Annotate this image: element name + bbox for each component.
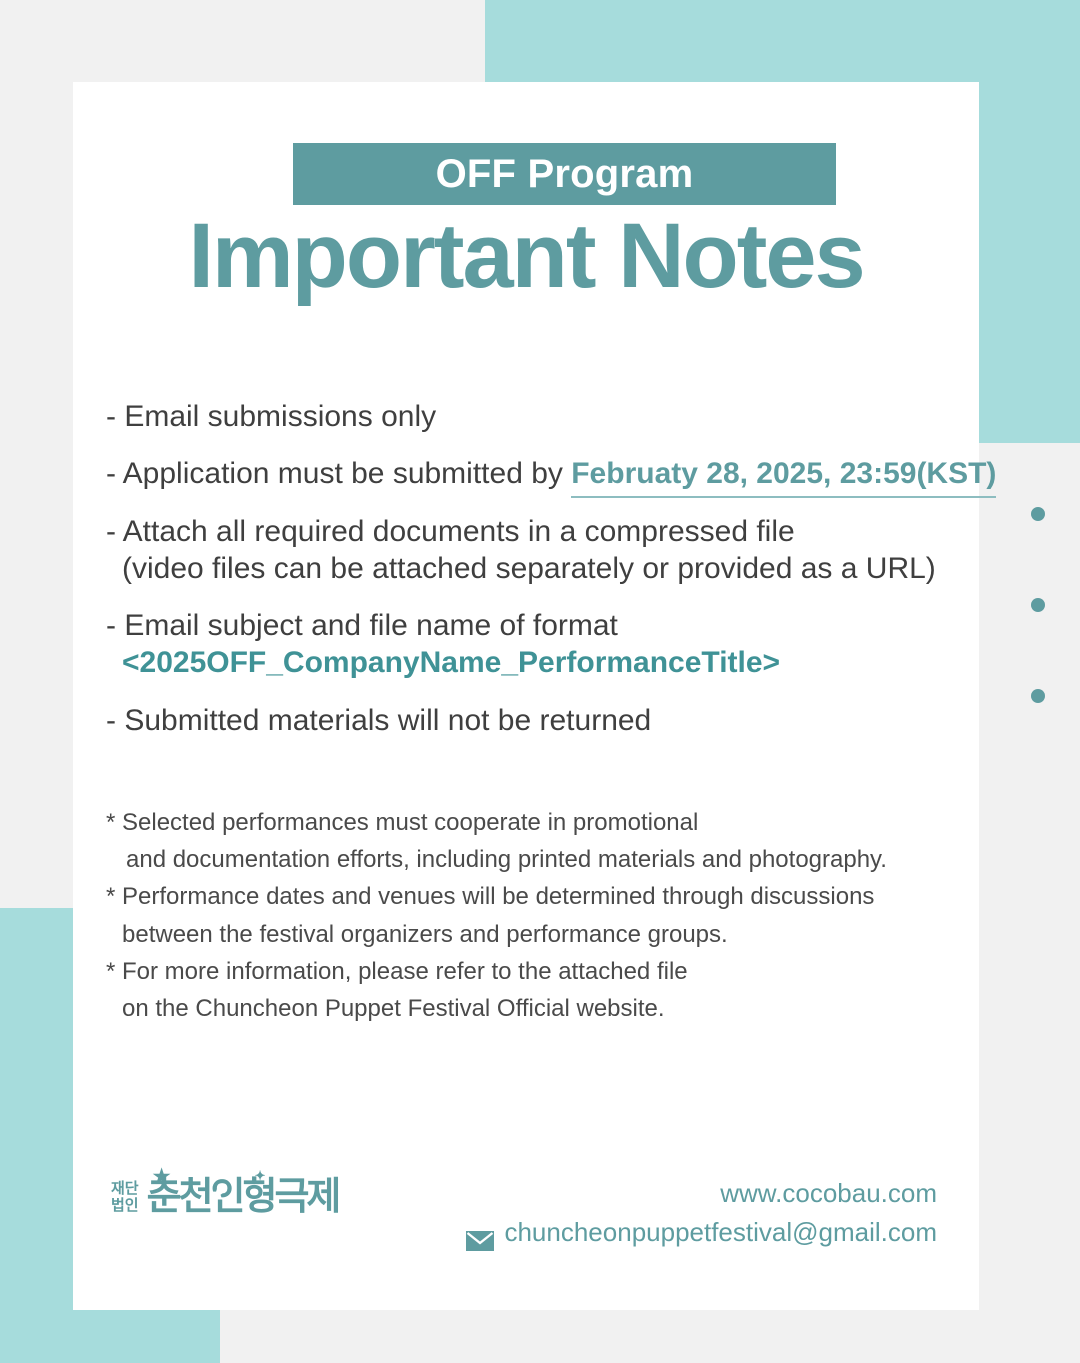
content-card: OFF Program Important Notes - Email subm… <box>73 82 979 1310</box>
contact-info: www.cocobau.com chuncheonpuppetfestival@… <box>466 1174 937 1252</box>
logo-star-icon-3: ✦ <box>255 1169 263 1182</box>
note-item-3-line2: (video files can be attached separately … <box>122 551 966 588</box>
email-text[interactable]: chuncheonpuppetfestival@gmail.com <box>504 1213 937 1252</box>
note-item-1: - Email submissions only <box>106 399 966 436</box>
website-row[interactable]: www.cocobau.com <box>466 1174 937 1213</box>
deadline-highlight: Februaty 28, 2025, 23:59(KST) <box>571 457 996 498</box>
envelope-icon <box>466 1223 494 1243</box>
note-item-4-line1: - Email subject and file name of format <box>106 609 618 642</box>
decorative-dot-2 <box>1031 598 1045 612</box>
note-item-4: - Email subject and file name of format … <box>106 608 966 681</box>
logo-wordmark-text: 춘천인형극제 <box>147 1176 339 1218</box>
fine-note-3-line1: * For more information, please refer to … <box>106 953 966 990</box>
fine-print-list: * Selected performances must cooperate i… <box>106 804 966 1027</box>
decorative-dot-1 <box>1031 507 1045 521</box>
note-item-2: - Application must be submitted by Febru… <box>106 456 966 493</box>
fine-note-1-line1: * Selected performances must cooperate i… <box>106 804 966 841</box>
festival-logo: 재단 법인 춘천인형극제 ★ ★ ✦ <box>111 1178 338 1216</box>
logo-prefix: 재단 법인 <box>111 1180 139 1215</box>
fine-note-1-line2: and documentation efforts, including pri… <box>106 841 966 878</box>
logo-prefix-line2: 법인 <box>111 1197 139 1214</box>
note-item-3: - Attach all required documents in a com… <box>106 514 966 587</box>
spacer-a <box>106 436 966 456</box>
filename-format-code: <2025OFF_CompanyName_PerformanceTitle> <box>122 645 966 682</box>
fine-note-3-line2: on the Chuncheon Puppet Festival Officia… <box>106 990 966 1027</box>
website-text[interactable]: www.cocobau.com <box>720 1174 937 1213</box>
poster-canvas: OFF Program Important Notes - Email subm… <box>0 0 1080 1363</box>
decorative-dot-3 <box>1031 689 1045 703</box>
logo-star-icon-2: ★ <box>211 1187 222 1203</box>
page-title: Important Notes <box>73 210 979 302</box>
spacer-d <box>106 682 966 703</box>
email-row[interactable]: chuncheonpuppetfestival@gmail.com <box>466 1213 937 1252</box>
spacer-c <box>106 587 966 608</box>
logo-wordmark: 춘천인형극제 ★ ★ ✦ <box>147 1178 339 1216</box>
fine-note-2-line1: * Performance dates and venues will be d… <box>106 878 966 915</box>
fine-note-2-line2: between the festival organizers and perf… <box>106 916 966 953</box>
program-badge: OFF Program <box>293 143 836 205</box>
note-item-1-text: - Email submissions only <box>106 400 436 433</box>
note-item-5: - Submitted materials will not be return… <box>106 703 966 740</box>
footer: 재단 법인 춘천인형극제 ★ ★ ✦ www.cocobau.com <box>73 1160 979 1280</box>
note-item-5-text: - Submitted materials will not be return… <box>106 704 651 737</box>
note-item-2-prefix: - Application must be submitted by <box>106 457 571 490</box>
note-item-3-line1: - Attach all required documents in a com… <box>106 515 795 548</box>
notes-list: - Email submissions only - Application m… <box>106 399 966 739</box>
logo-prefix-line1: 재단 <box>111 1180 139 1197</box>
logo-star-icon-1: ★ <box>153 1167 168 1187</box>
